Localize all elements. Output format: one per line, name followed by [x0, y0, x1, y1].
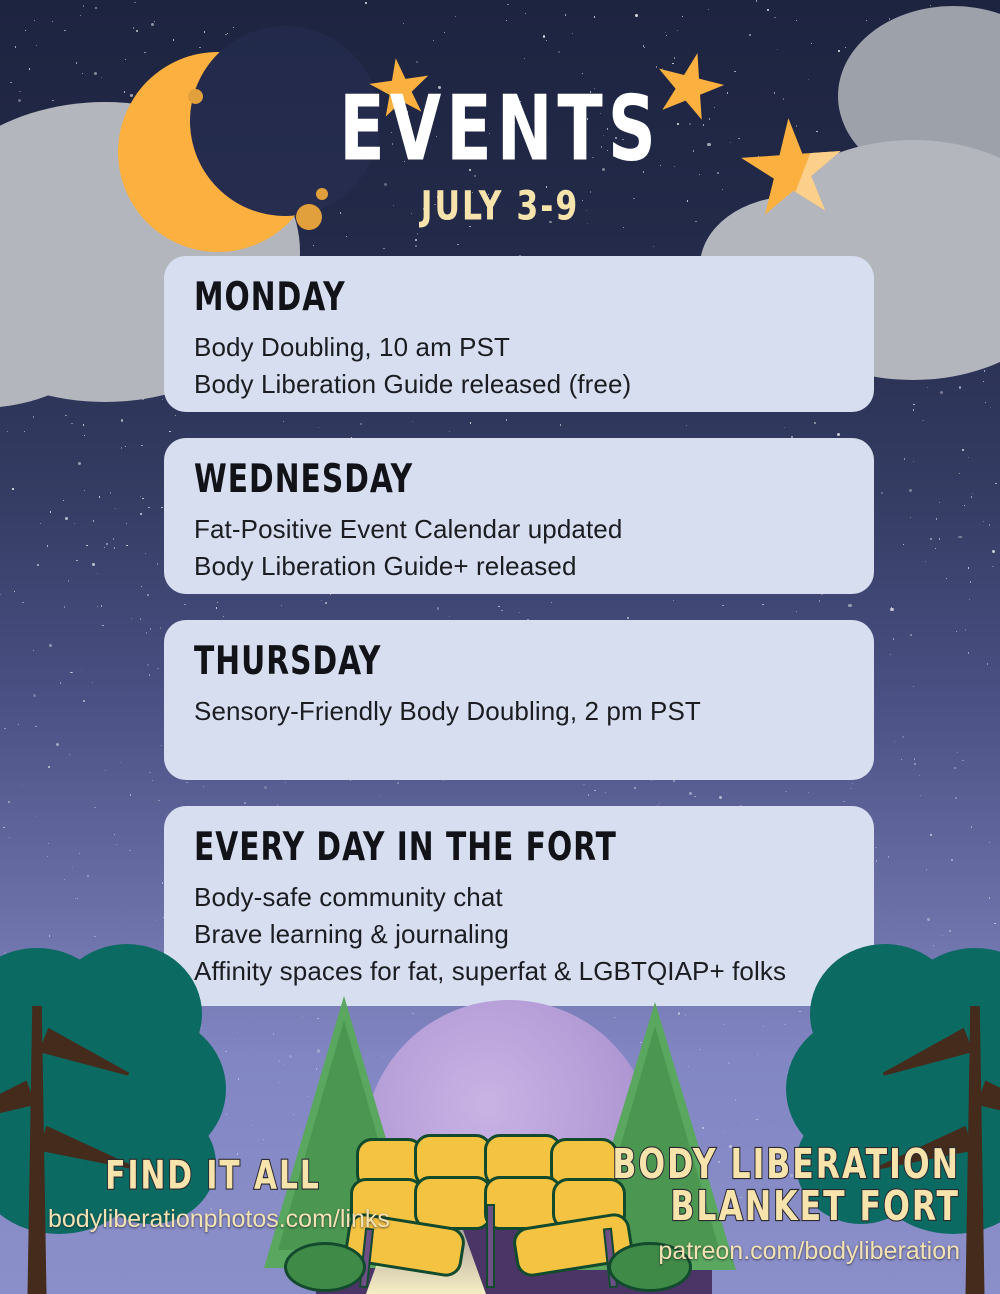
event-card-wednesday[interactable]: WEDNESDAY Fat-Positive Event Calendar up…: [164, 438, 874, 594]
card-line: Affinity spaces for fat, superfat & LGBT…: [194, 953, 844, 990]
card-day-label: MONDAY: [194, 272, 844, 321]
date-range: JULY 3-9: [0, 184, 1000, 230]
footer-left-heading: FIND IT ALL: [48, 1152, 378, 1198]
pillow: [414, 1176, 492, 1230]
event-card-every-day-in-the-fort[interactable]: EVERY DAY IN THE FORT Body-safe communit…: [164, 806, 874, 1006]
pillow: [484, 1176, 562, 1230]
card-day-label: THURSDAY: [194, 636, 844, 685]
card-line: Body Doubling, 10 am PST: [194, 329, 844, 366]
event-card-thursday[interactable]: THURSDAY Sensory-Friendly Body Doubling,…: [164, 620, 874, 780]
card-line: Body Liberation Guide released (free): [194, 366, 844, 403]
event-card-list: MONDAY Body Doubling, 10 am PST Body Lib…: [164, 256, 874, 1032]
footer-right: BODY LIBERATION BLANKET FORT patreon.com…: [580, 1140, 960, 1266]
card-line: Body-safe community chat: [194, 879, 844, 916]
footer-right-url[interactable]: patreon.com/bodyliberation: [580, 1237, 960, 1266]
page-title: EVENTS: [0, 84, 1000, 174]
bush: [284, 1242, 366, 1292]
card-day-label: WEDNESDAY: [194, 454, 844, 503]
footer-left-url[interactable]: bodyliberationphotos.com/links: [48, 1205, 378, 1234]
fort-pole-center: [486, 1204, 495, 1288]
events-poster: EVENTS JULY 3-9 MONDAY Body Doubling, 10…: [0, 0, 1000, 1294]
card-line: Brave learning & journaling: [194, 916, 844, 953]
card-line: Sensory-Friendly Body Doubling, 2 pm PST: [194, 693, 844, 730]
poster-header: EVENTS JULY 3-9: [0, 84, 1000, 224]
footer-left: FIND IT ALL bodyliberationphotos.com/lin…: [48, 1152, 378, 1234]
footer-right-heading-line2: BLANKET FORT: [580, 1182, 960, 1232]
card-line: Fat-Positive Event Calendar updated: [194, 511, 844, 548]
card-day-label: EVERY DAY IN THE FORT: [194, 822, 844, 871]
card-line: Body Liberation Guide+ released: [194, 548, 844, 585]
tree-left-icon: [0, 944, 216, 1294]
event-card-monday[interactable]: MONDAY Body Doubling, 10 am PST Body Lib…: [164, 256, 874, 412]
